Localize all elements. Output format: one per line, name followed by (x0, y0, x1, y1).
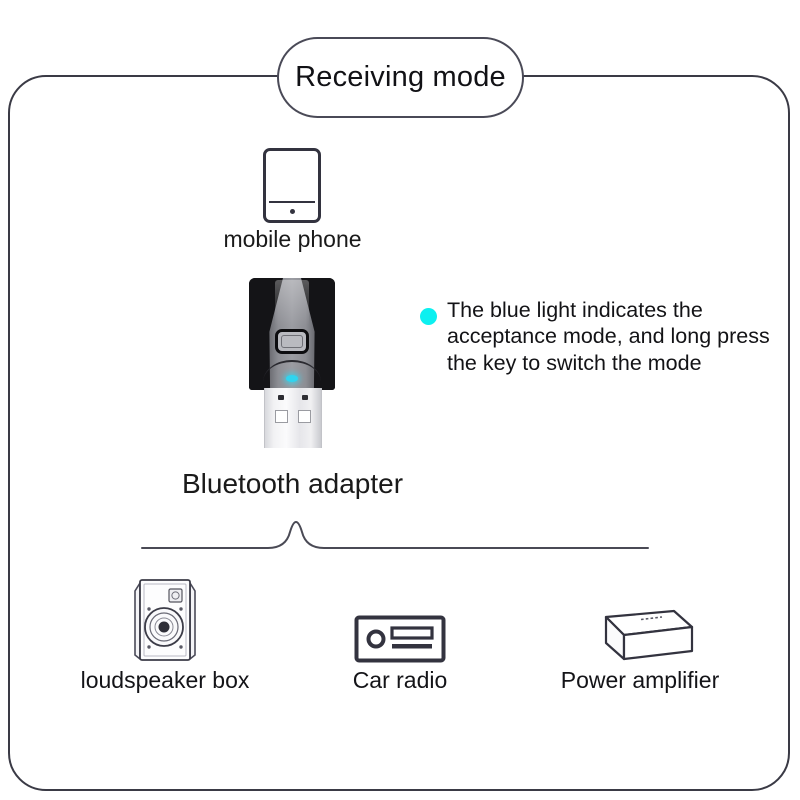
car-radio-label: Car radio (300, 669, 500, 692)
adapter-blue-led (286, 375, 298, 382)
output-loudspeaker-box: loudspeaker box (40, 575, 290, 700)
phone-divider (269, 201, 315, 203)
diagram-title-pill: Receiving mode (277, 37, 524, 118)
brace-connector (140, 520, 650, 552)
adapter-body (249, 278, 335, 390)
output-power-amplifier: Power amplifier (515, 575, 765, 700)
receiving-mode-diagram: Receiving mode mobile phone Bluetooth ad… (0, 0, 800, 800)
phone-home-button-dot (290, 209, 295, 214)
page-title: Receiving mode (295, 63, 506, 92)
usb-dot-left (278, 395, 284, 400)
power-amplifier-icon (515, 575, 765, 663)
blue-light-bullet-icon (420, 308, 437, 325)
output-car-radio: Car radio (300, 575, 500, 700)
loudspeaker-box-label: loudspeaker box (40, 669, 290, 692)
power-amplifier-label: Power amplifier (515, 669, 765, 692)
usb-connector (264, 388, 322, 448)
usb-dot-right (302, 395, 308, 400)
bluetooth-adapter-label: Bluetooth adapter (0, 470, 585, 498)
usb-cutout-left (275, 410, 288, 423)
loudspeaker-box-icon (40, 575, 290, 663)
car-radio-icon (300, 575, 500, 663)
usb-bluetooth-adapter-icon (249, 278, 335, 448)
usb-cutout-right (298, 410, 311, 423)
blue-light-note: The blue light indicates the acceptance … (420, 297, 780, 376)
mobile-phone-label: mobile phone (0, 228, 585, 251)
mobile-phone-icon (263, 148, 321, 223)
adapter-gloss-highlight (275, 280, 309, 326)
phone-body (263, 148, 321, 223)
adapter-mode-key (275, 329, 309, 354)
blue-light-note-text: The blue light indicates the acceptance … (447, 297, 780, 376)
